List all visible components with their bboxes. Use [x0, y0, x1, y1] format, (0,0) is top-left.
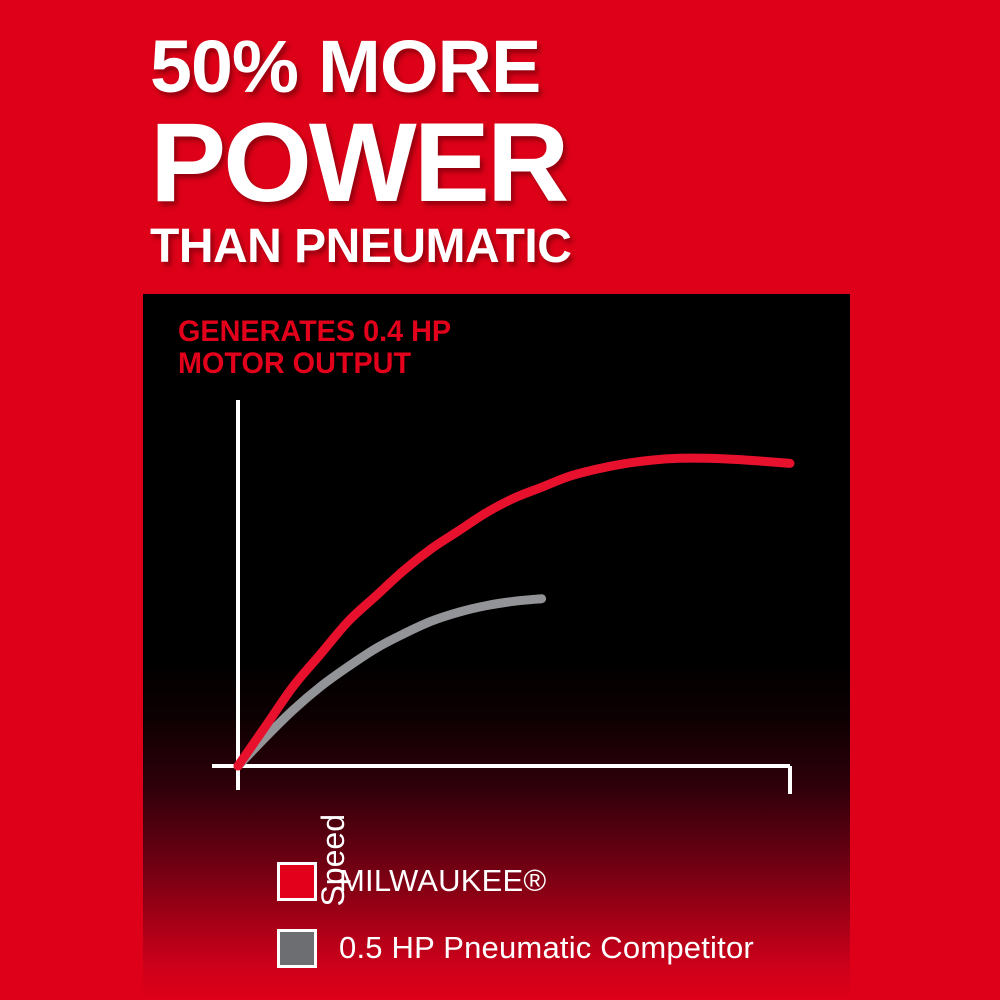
headline-line-2: POWER — [150, 107, 1000, 219]
legend-swatch-milwaukee — [277, 862, 317, 901]
competitor-curve — [238, 599, 542, 766]
chart-legend: MILWAUKEE® 0.5 HP Pneumatic Competitor — [277, 854, 754, 988]
legend-item-competitor: 0.5 HP Pneumatic Competitor — [277, 921, 754, 975]
promo-headline: 50% MORE POWER THAN PNEUMATIC — [0, 0, 1000, 271]
legend-swatch-competitor — [277, 929, 317, 968]
legend-label-milwaukee: MILWAUKEE® — [339, 863, 546, 899]
headline-line-3: THAN PNEUMATIC — [150, 223, 1000, 271]
milwaukee-curve — [238, 458, 790, 766]
legend-label-competitor: 0.5 HP Pneumatic Competitor — [339, 930, 754, 966]
legend-item-milwaukee: MILWAUKEE® — [277, 854, 754, 908]
headline-line-1: 50% MORE — [150, 30, 1000, 104]
chart-panel: GENERATES 0.4 HP MOTOR OUTPUT Speed Torq… — [143, 294, 850, 1000]
